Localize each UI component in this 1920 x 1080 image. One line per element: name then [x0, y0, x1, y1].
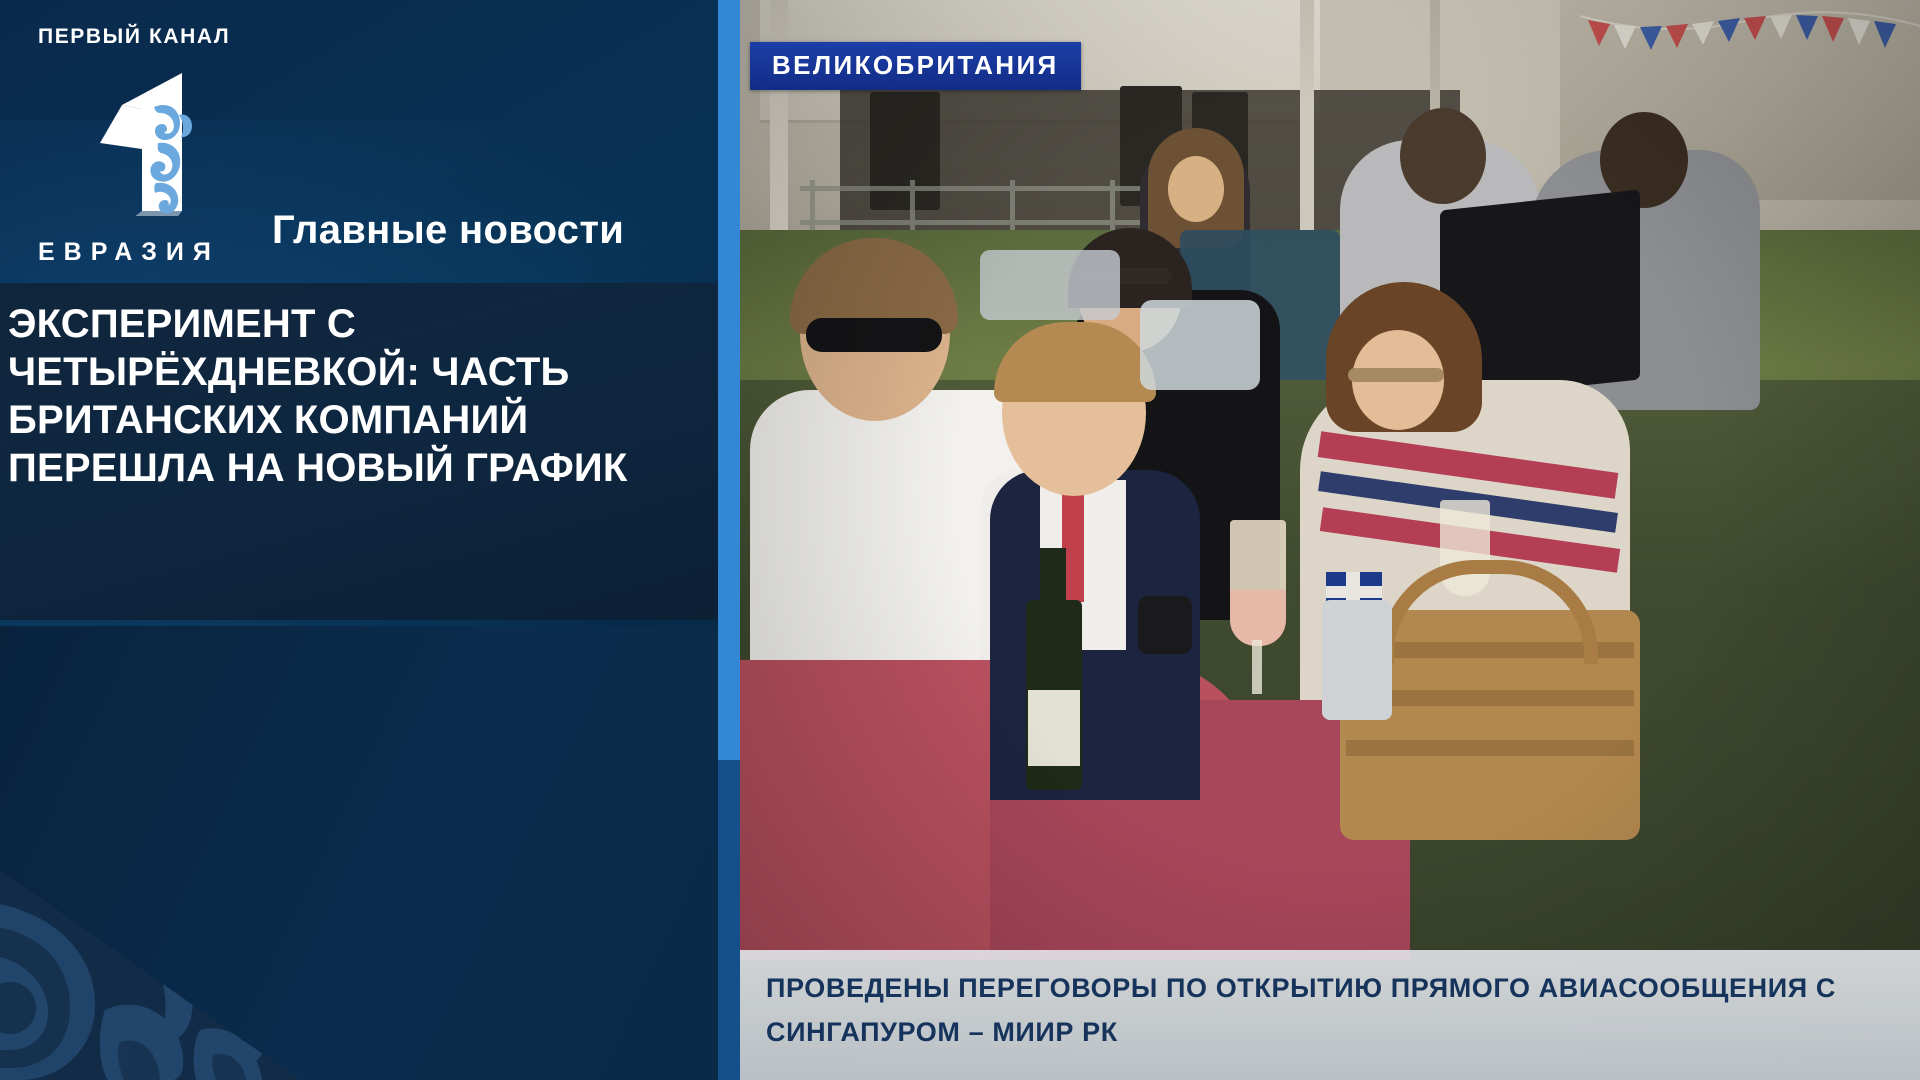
location-tag: ВЕЛИКОБРИТАНИЯ	[750, 42, 1081, 90]
crowd-figure-head	[1400, 108, 1486, 204]
sunglasses	[806, 318, 942, 352]
channel-one-eurasia-logo	[76, 71, 226, 216]
picnic-basket-weave	[1346, 740, 1634, 756]
headline-line: ПЕРЕШЛА НА НОВЫЙ ГРАФИК	[8, 444, 718, 492]
panel-lower-tint	[0, 626, 718, 1080]
wristwatch	[1138, 596, 1192, 654]
champagne-glass-bowl	[1230, 590, 1286, 646]
crowd-figure-face	[1168, 156, 1224, 222]
broadcast-screen: ПЕРВЫЙ КАНАЛ	[0, 0, 1920, 1080]
channel-name-top: ПЕРВЫЙ КАНАЛ	[38, 26, 268, 47]
picnic-items	[980, 250, 1120, 320]
wine-bottle-neck	[1040, 548, 1066, 618]
picnic-blanket	[1140, 300, 1260, 390]
headline-line: ЧЕТЫРЁХДНЕВКОЙ: ЧАСТЬ	[8, 348, 718, 396]
bunting-flags	[1580, 10, 1920, 80]
eyeglasses	[1348, 368, 1444, 382]
channel-name-bottom: ЕВРАЗИЯ	[38, 238, 268, 267]
headline-line: БРИТАНСКИХ КОМПАНИЙ	[8, 396, 718, 444]
tent-pole	[1300, 0, 1314, 250]
champagne-glass-stem	[1252, 640, 1262, 694]
thermos-flask	[1322, 600, 1392, 720]
program-title: Главные новости	[272, 208, 624, 253]
wine-bottle-label	[1028, 690, 1080, 766]
headline-line: ЭКСПЕРИМЕНТ С	[8, 300, 718, 348]
video-feed: ВЕЛИКОБРИТАНИЯ ПРОВЕДЕНЫ ПЕРЕГОВОРЫ ПО О…	[740, 0, 1920, 1080]
channel-branding: ПЕРВЫЙ КАНАЛ	[38, 26, 268, 267]
headline: ЭКСПЕРИМЕНТ С ЧЕТЫРЁХДНЕВКОЙ: ЧАСТЬ БРИТ…	[8, 300, 718, 492]
news-ticker: ПРОВЕДЕНЫ ПЕРЕГОВОРЫ ПО ОТКРЫТИЮ ПРЯМОГО…	[740, 950, 1920, 1080]
ticker-line: СИНГАПУРОМ – МИИР РК	[766, 1010, 1894, 1054]
ticker-line: ПРОВЕДЕНЫ ПЕРЕГОВОРЫ ПО ОТКРЫТИЮ ПРЯМОГО…	[766, 966, 1894, 1010]
vertical-accent-bar-light	[718, 0, 740, 760]
left-branding-panel: ПЕРВЫЙ КАНАЛ	[0, 0, 718, 1080]
